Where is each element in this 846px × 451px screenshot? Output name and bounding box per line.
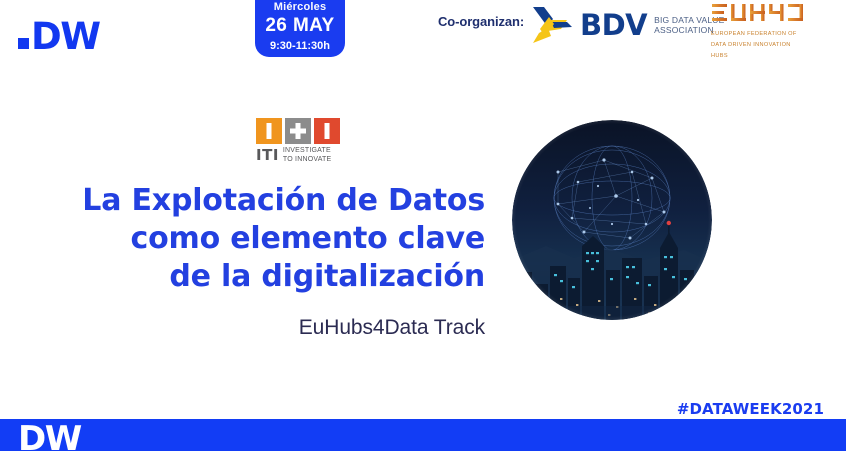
- dataweek-logo-top: DW: [18, 22, 100, 52]
- coorganizers-label: Co-organizan:: [438, 14, 524, 29]
- euh4d-name-line2: DATA DRIVEN INNOVATION: [711, 42, 811, 50]
- bdv-acronym: BDV: [580, 11, 647, 40]
- bdv-logo: BDV BIG DATA VALUE ASSOCIATION: [527, 2, 724, 48]
- iti-tagline: INVESTIGATE TO INNOVATE: [283, 147, 331, 165]
- event-time: 9:30-11:30h: [255, 40, 345, 52]
- city-network-circle-image: [512, 120, 712, 320]
- euh4d-name-line3: HUBS: [711, 53, 811, 61]
- iti-acronym: ITI: [256, 148, 279, 163]
- iti-tagline-line1: INVESTIGATE: [283, 147, 331, 156]
- dw-dot-icon: [18, 38, 29, 49]
- iti-square-plus: [285, 118, 311, 144]
- dw-wordmark-bottom: DW: [18, 426, 81, 451]
- iti-tagline-line2: TO INNOVATE: [283, 156, 331, 165]
- euh4d-logo: EUROPEAN FEDERATION OF DATA DRIVEN INNOV…: [711, 3, 811, 61]
- dw-wordmark: DW: [31, 22, 100, 52]
- euh4d-name-line1: EUROPEAN FEDERATION OF: [711, 31, 811, 39]
- event-hashtag: #DATAWEEK2021: [677, 400, 824, 418]
- event-weekday: Miércoles: [255, 1, 345, 13]
- iti-name-block: ITI INVESTIGATE TO INNOVATE: [256, 147, 340, 165]
- dataweek-logo-bottom: DW: [18, 426, 81, 451]
- footer-bar: [0, 419, 846, 451]
- bdv-pinwheel-icon: [527, 2, 573, 48]
- iti-square-i-right: [314, 118, 340, 144]
- euh4d-wordmark-icon: [711, 3, 811, 23]
- presentation-slide: DW Miércoles 26 MAY 9:30-11:30h Co-organ…: [0, 0, 846, 451]
- slide-title-line2: como elemento clave: [40, 220, 485, 258]
- slide-subtitle: EuHubs4Data Track: [40, 316, 485, 340]
- iti-square-i-left: [256, 118, 282, 144]
- event-day: 26 MAY: [255, 15, 345, 37]
- slide-title: La Explotación de Datos como elemento cl…: [40, 182, 485, 295]
- slide-title-line1: La Explotación de Datos: [40, 182, 485, 220]
- iti-squares-icon: [256, 118, 340, 144]
- event-date-badge: Miércoles 26 MAY 9:30-11:30h: [255, 0, 345, 57]
- iti-logo: ITI INVESTIGATE TO INNOVATE: [256, 118, 340, 165]
- slide-title-line3: de la digitalización: [40, 258, 485, 296]
